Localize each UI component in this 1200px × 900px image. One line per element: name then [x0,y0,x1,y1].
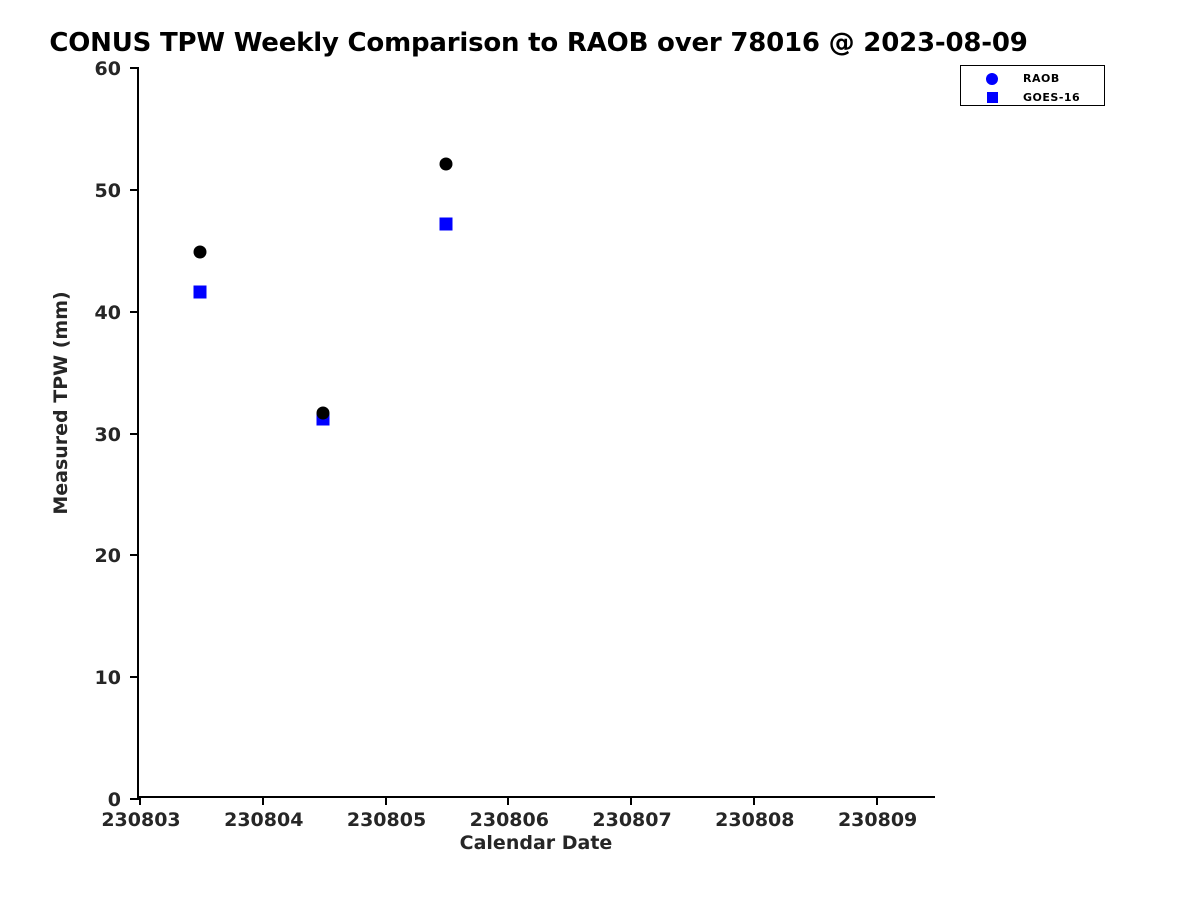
data-point-goes-16 [439,218,452,231]
y-tick: 60 [130,67,139,69]
chart-legend: RAOBGOES-16 [960,65,1105,106]
plot-area: 0102030405060 23080323080423080523080623… [137,67,935,798]
x-tick-label: 230808 [715,809,794,831]
y-tick-label: 10 [95,667,121,689]
y-tick-label: 0 [108,789,121,811]
x-tick: 230808 [753,796,755,805]
x-tick: 230805 [385,796,387,805]
data-point-raob [317,407,330,420]
x-tick-label: 230807 [592,809,671,831]
legend-label: GOES-16 [1023,91,1080,104]
x-axis-label: Calendar Date [137,832,935,854]
legend-item-goes-16[interactable]: GOES-16 [961,88,1104,107]
chart-figure: CONUS TPW Weekly Comparison to RAOB over… [0,0,1200,900]
x-tick: 230809 [876,796,878,805]
y-tick-label: 50 [95,180,121,202]
x-tick-label: 230803 [101,809,180,831]
x-tick: 230806 [507,796,509,805]
y-tick-label: 60 [95,58,121,80]
legend-marker-wrap [961,73,1023,85]
x-tick: 230804 [262,796,264,805]
x-tick: 230803 [139,796,141,805]
y-tick-label: 30 [95,424,121,446]
y-tick: 20 [130,554,139,556]
x-tick-label: 230809 [838,809,917,831]
data-point-raob [194,246,207,259]
y-tick: 0 [130,798,139,800]
y-tick: 50 [130,189,139,191]
y-axis-label: Measured TPW (mm) [50,263,72,543]
square-marker-icon [987,92,998,103]
x-tick-label: 230806 [470,809,549,831]
chart-title: CONUS TPW Weekly Comparison to RAOB over… [0,28,1077,58]
data-point-goes-16 [194,286,207,299]
circle-marker-icon [986,73,998,85]
x-tick-label: 230805 [347,809,426,831]
x-tick: 230807 [630,796,632,805]
x-tick-label: 230804 [224,809,303,831]
legend-marker-wrap [961,92,1023,103]
y-tick: 40 [130,311,139,313]
y-tick-label: 20 [95,545,121,567]
legend-label: RAOB [1023,72,1060,85]
data-points-layer [139,67,935,796]
legend-item-raob[interactable]: RAOB [961,69,1104,88]
y-tick-label: 40 [95,302,121,324]
y-tick: 30 [130,433,139,435]
data-point-raob [439,158,452,171]
y-tick: 10 [130,676,139,678]
